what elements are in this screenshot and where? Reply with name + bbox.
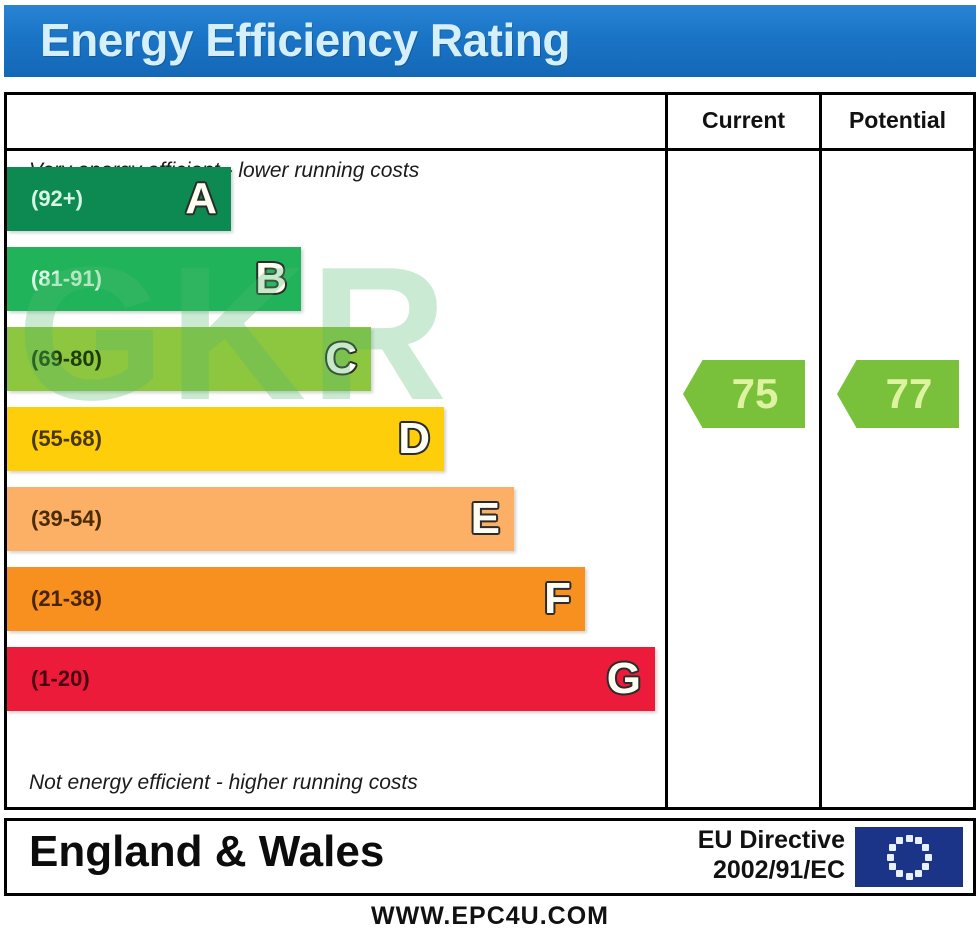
band-letter-c: C (325, 334, 357, 384)
eu-flag-star (922, 844, 929, 851)
eu-flag-star (889, 863, 896, 870)
band-range-g: (1-20) (31, 666, 90, 692)
band-letter-e: E (471, 494, 500, 544)
band-row-a: (92+)A (7, 167, 231, 231)
band-range-b: (81-91) (31, 266, 102, 292)
band-letter-a: A (185, 174, 217, 224)
site-url: WWW.EPC4U.COM (0, 902, 980, 931)
eu-flag-star (906, 873, 913, 880)
band-bar-a: (92+)A (7, 167, 231, 231)
eu-flag-star (922, 863, 929, 870)
page-title: Energy Efficiency Rating (40, 13, 570, 67)
band-bars: (92+)A(81-91)B(69-80)C(55-68)D(39-54)E(2… (7, 151, 665, 807)
band-row-e: (39-54)E (7, 487, 514, 551)
footer-directive: EU Directive 2002/91/EC (698, 826, 845, 885)
band-letter-d: D (398, 414, 430, 464)
column-divider-2 (819, 95, 822, 807)
band-bar-g: (1-20)G (7, 647, 655, 711)
band-bar-d: (55-68)D (7, 407, 444, 471)
band-row-c: (69-80)C (7, 327, 371, 391)
eu-flag-icon (855, 827, 963, 887)
eu-flag-star (915, 837, 922, 844)
eu-flag-star (915, 870, 922, 877)
band-bar-e: (39-54)E (7, 487, 514, 551)
band-range-f: (21-38) (31, 586, 102, 612)
eu-flag-star (925, 854, 932, 861)
band-row-d: (55-68)D (7, 407, 444, 471)
column-header-potential: Potential (822, 107, 973, 134)
column-header-current: Current (668, 107, 819, 134)
potential-rating-value: 77 (864, 370, 933, 418)
rating-chart: Current Potential Very energy efficient … (4, 92, 976, 810)
eu-flag-star (889, 844, 896, 851)
band-row-f: (21-38)F (7, 567, 585, 631)
column-divider-1 (665, 95, 668, 807)
band-letter-b: B (255, 254, 287, 304)
band-bar-f: (21-38)F (7, 567, 585, 631)
current-rating-arrow: 75 (683, 360, 805, 428)
epc-certificate: Energy Efficiency Rating Current Potenti… (0, 0, 980, 950)
band-range-c: (69-80) (31, 346, 102, 372)
title-bar: Energy Efficiency Rating (4, 5, 976, 77)
band-range-a: (92+) (31, 186, 83, 212)
directive-line-2: 2002/91/EC (698, 856, 845, 886)
eu-flag-star (896, 837, 903, 844)
eu-flag-star (896, 870, 903, 877)
footer-region: England & Wales (29, 827, 384, 877)
eu-flag-star (906, 835, 913, 842)
current-rating-value: 75 (710, 370, 779, 418)
band-bar-b: (81-91)B (7, 247, 301, 311)
potential-rating-arrow: 77 (837, 360, 959, 428)
band-range-e: (39-54) (31, 506, 102, 532)
band-range-d: (55-68) (31, 426, 102, 452)
band-bar-c: (69-80)C (7, 327, 371, 391)
directive-line-1: EU Directive (698, 826, 845, 856)
eu-flag-star (887, 854, 894, 861)
band-row-g: (1-20)G (7, 647, 655, 711)
band-letter-g: G (607, 654, 641, 704)
footer: England & Wales EU Directive 2002/91/EC (4, 818, 976, 896)
band-row-b: (81-91)B (7, 247, 301, 311)
band-letter-f: F (544, 574, 571, 624)
